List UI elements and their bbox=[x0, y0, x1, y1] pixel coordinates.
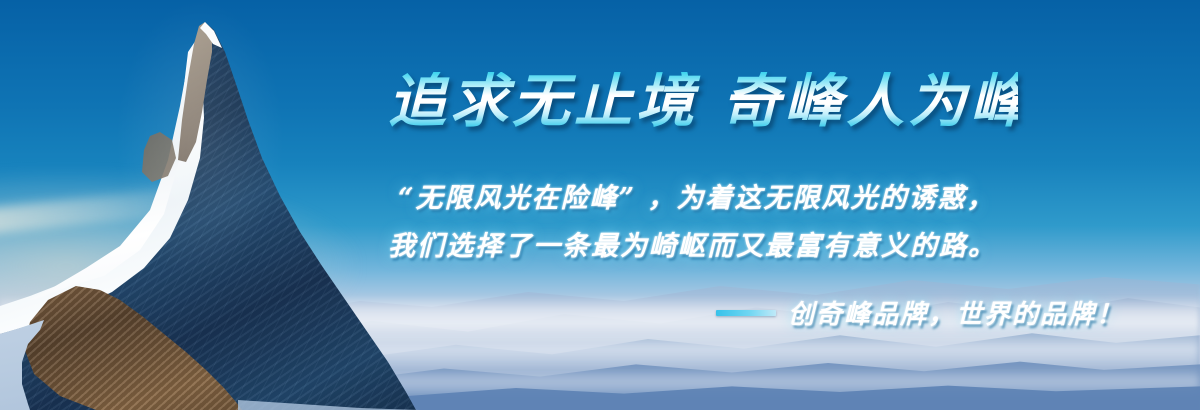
banner-headline: 追求无止境 奇峰人为峰 bbox=[388, 72, 1018, 130]
hero-banner: 追求无止境 奇峰人为峰 “无限风光在险峰” ，为着这无限风光的诱惑， 我们选择了… bbox=[0, 0, 1200, 410]
banner-signature: 创奇峰品牌，世界的品牌！ bbox=[716, 294, 1124, 331]
banner-subline-1: “无限风光在险峰” ，为着这无限风光的诱惑， bbox=[398, 176, 1018, 215]
banner-subline-2: 我们选择了一条最为崎岖而又最富有意义的路。 bbox=[388, 224, 1008, 263]
banner-signature-text: 创奇峰品牌，世界的品牌！ bbox=[788, 294, 1124, 331]
em-dash-icon bbox=[716, 310, 776, 316]
